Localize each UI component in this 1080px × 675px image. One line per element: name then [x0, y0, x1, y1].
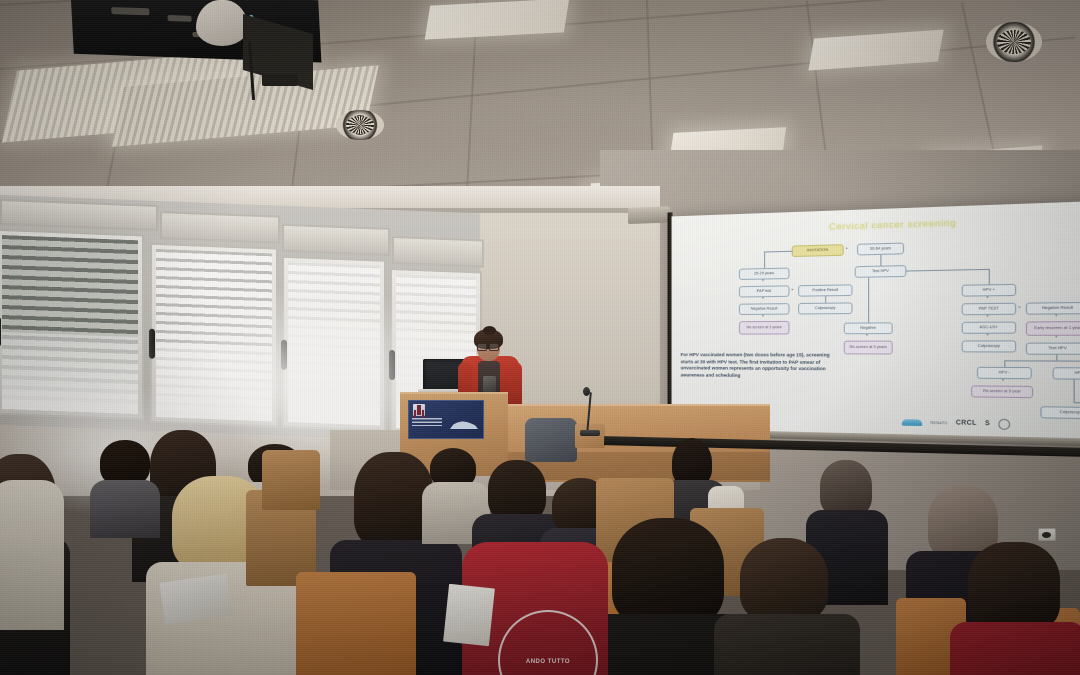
- flow-node-negative-right: Negative Result: [1026, 302, 1080, 315]
- ring-logo: [998, 419, 1010, 430]
- window-handle[interactable]: [281, 340, 287, 370]
- flow-node-negative-mid: Negative: [844, 322, 893, 334]
- flow-node-colposcopy-mid: Colposcopy: [962, 340, 1017, 352]
- flow-node-invitation: INVITATION: [792, 244, 844, 257]
- window-transom: [282, 224, 390, 256]
- audience-chair[interactable]: [262, 450, 320, 510]
- flow-node-pap-test-left: PAP test: [739, 285, 790, 297]
- flow-node-test-hpv-2: Test HPV: [1026, 342, 1080, 354]
- audience-chair[interactable]: [296, 572, 416, 675]
- window-pane[interactable]: [282, 256, 386, 432]
- projector-bracket: [262, 74, 298, 86]
- air-diffuser-icon: [336, 110, 384, 140]
- note-paper: [443, 584, 495, 646]
- window-handle[interactable]: [149, 329, 155, 359]
- projected-slide: Cervical cancer screening INVITATION 30-…: [676, 207, 1080, 438]
- flow-node-negative-left: Negative Result: [739, 303, 790, 315]
- flow-node-colposcopy-end: Colposcopy: [1040, 406, 1080, 419]
- slide-title: Cervical cancer screening: [829, 217, 956, 232]
- wave-logo: [902, 419, 923, 426]
- flow-node-pap-test-right: PAP TEST: [962, 303, 1017, 316]
- window-transom: [392, 236, 484, 268]
- window-handle[interactable]: [0, 317, 1, 347]
- wall-power-outlet: [1038, 528, 1056, 541]
- shirt-print-text: ANDO TUTTO: [526, 659, 570, 665]
- flow-node-age-30-64: 30-64 years: [857, 243, 904, 256]
- screen-roller-casing: [628, 206, 670, 224]
- flow-node-hpv-positive-2: HPV +: [1053, 367, 1080, 380]
- flow-node-early-rescreen: Early rescreen at 1 year: [1026, 321, 1080, 336]
- window-transom: [160, 211, 280, 244]
- audience-area: ANDO TUTTO: [0, 430, 1080, 675]
- projector-lens-housing: [196, 0, 248, 46]
- flow-node-ascus: ASC-US+: [962, 322, 1017, 334]
- window-pane[interactable]: [0, 229, 144, 421]
- flow-node-test-hpv: Test HPV: [855, 265, 907, 278]
- renato-logo: RENATO: [930, 421, 947, 426]
- presenter-hair-bun: [483, 326, 496, 335]
- s-mark-logo: S: [985, 421, 990, 428]
- podium-institution-text: [412, 418, 442, 428]
- presenter-badge: [483, 376, 496, 392]
- conference-room-photo: Cervical cancer screening INVITATION 30-…: [0, 0, 1080, 675]
- air-diffuser-icon: [986, 22, 1042, 62]
- flow-node-age-25-29: 25-29 years: [739, 268, 790, 280]
- window-pane[interactable]: [150, 243, 278, 428]
- window-handle[interactable]: [389, 350, 395, 380]
- flow-node-positive-result: Positive Result: [798, 284, 852, 296]
- institutional-crest-icon: [413, 404, 425, 416]
- flow-node-rescreen-3y: Re-screen at 3 years: [739, 321, 790, 335]
- slide-footer-logos-right: RENATO CRCL S: [902, 417, 1011, 430]
- flow-node-hpv-negative-2: HPV -: [977, 367, 1032, 380]
- flow-node-hpv-positive: HPV +: [962, 284, 1017, 297]
- flow-node-rescreen-5-year: Re-screen at 5 year: [971, 385, 1033, 398]
- microphone-head: [583, 387, 590, 396]
- flow-node-colposcopy-left: Colposcopy: [798, 302, 852, 314]
- slide-paragraph: For HPV vaccinated women (two doses befo…: [681, 352, 841, 380]
- window-transom: [0, 199, 158, 231]
- crcl-logo: CRCL: [956, 420, 977, 427]
- presenter-glasses-icon: [477, 343, 499, 349]
- flow-node-rescreen-5y-mid: Re-screen at 5 years: [844, 341, 893, 355]
